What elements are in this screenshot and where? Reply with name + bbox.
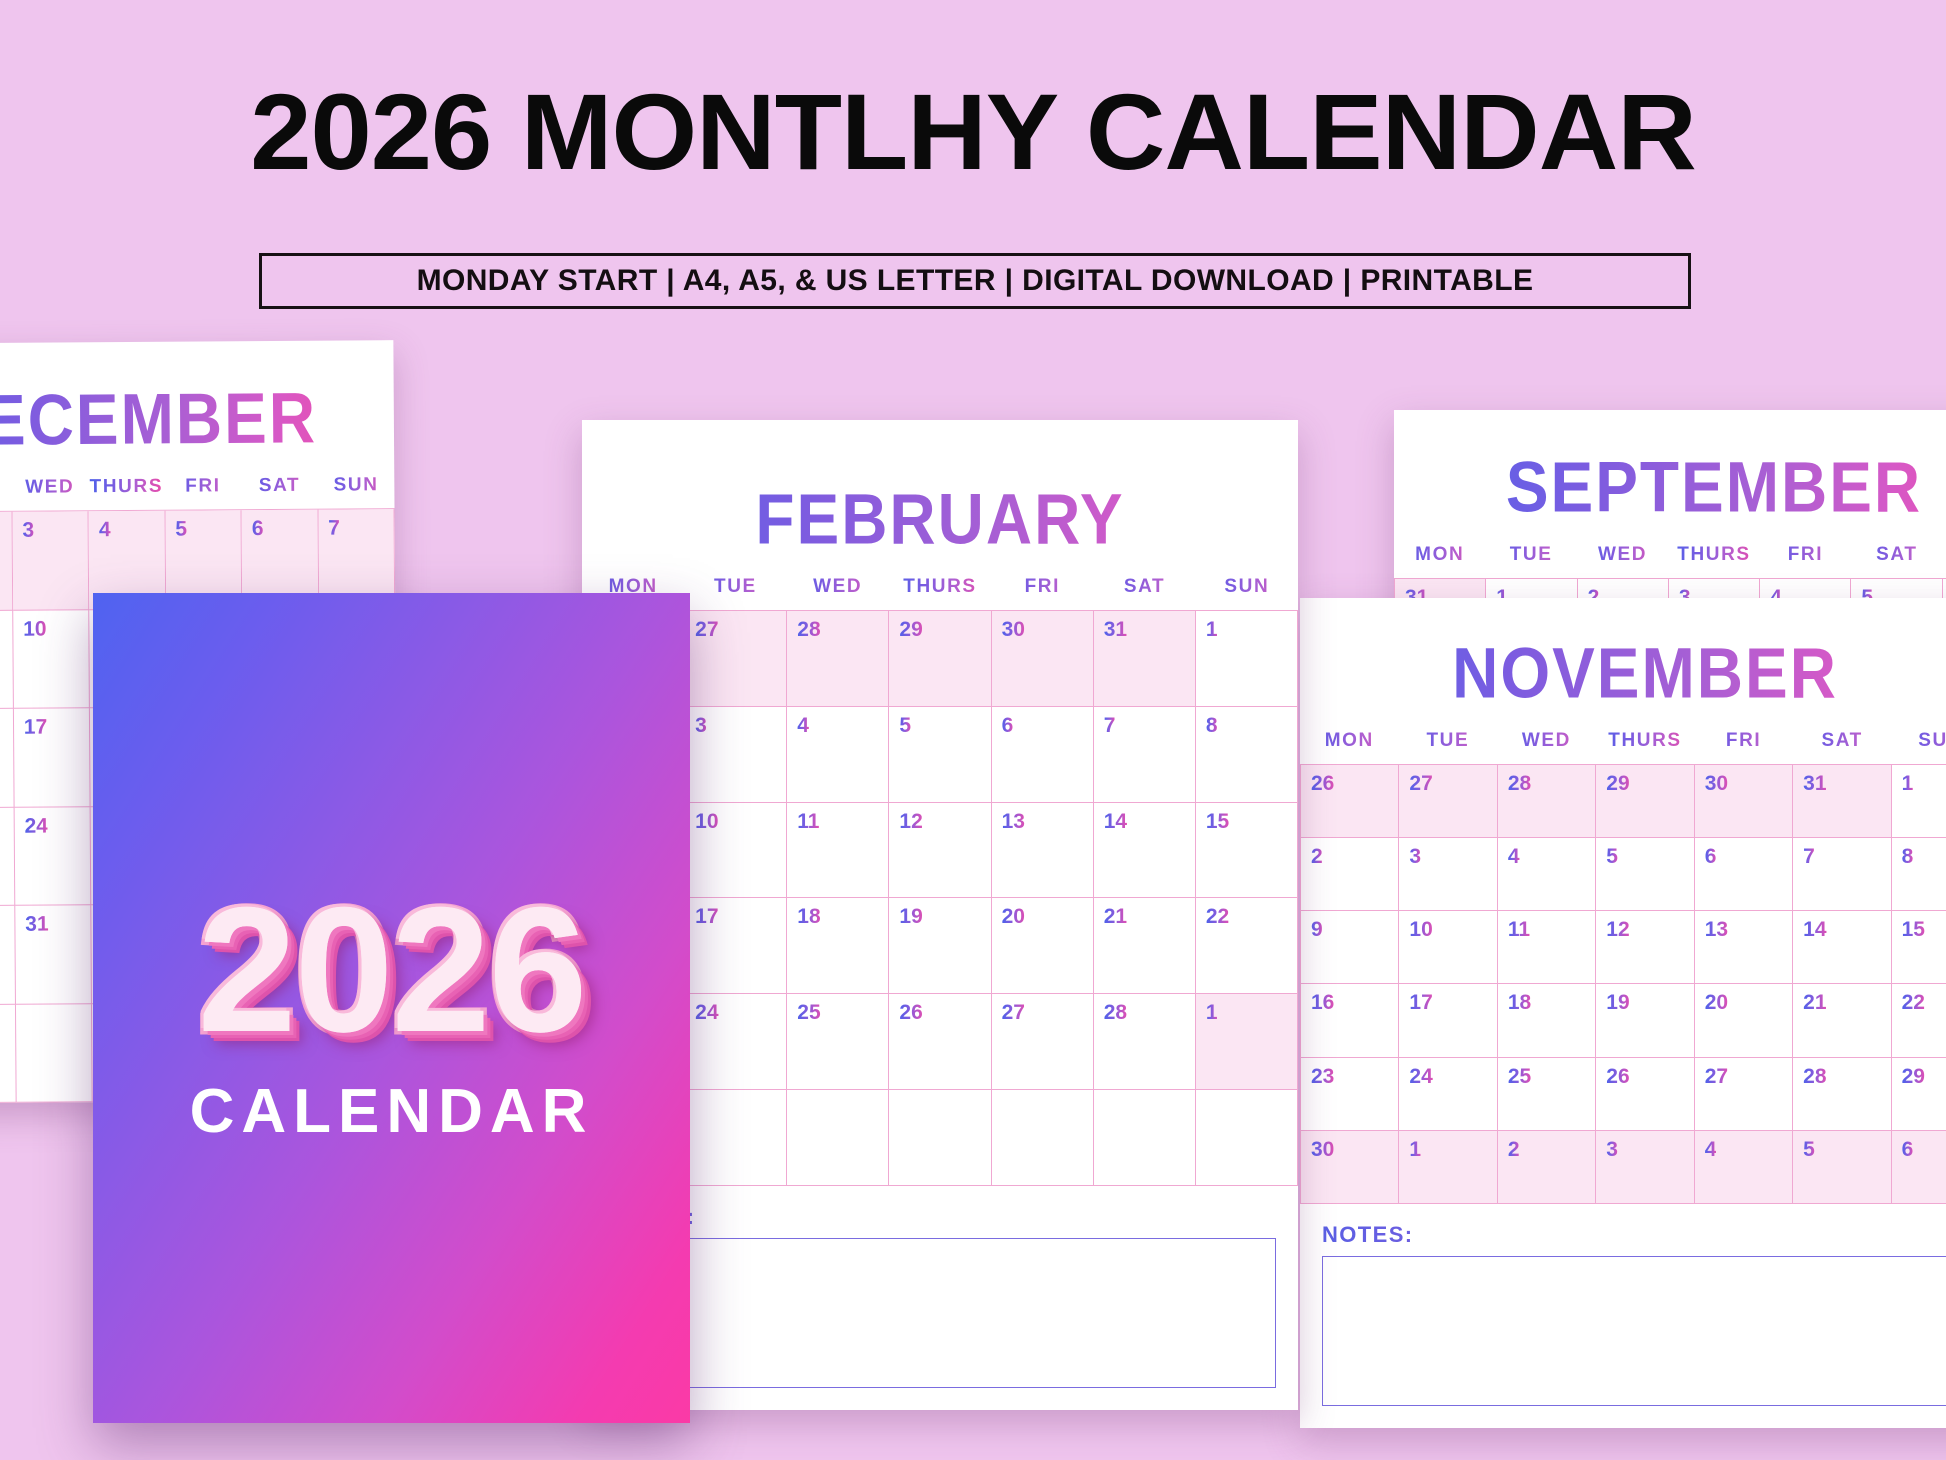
day-number: 21 bbox=[1104, 905, 1127, 929]
day-cell[interactable]: 9 bbox=[0, 610, 14, 709]
day-cell[interactable]: 28 bbox=[1094, 994, 1196, 1090]
weekday-wed: WED bbox=[1577, 534, 1668, 578]
day-cell[interactable]: 22 bbox=[1196, 898, 1298, 994]
day-number: 1 bbox=[1902, 772, 1914, 796]
day-cell[interactable]: 7 bbox=[1094, 707, 1196, 803]
day-grid-november: 2627282930311234567891011121314151617181… bbox=[1300, 764, 1946, 1204]
weekday-wed: WED bbox=[1497, 720, 1596, 764]
weekday-header-row-november: MON TUE WED THURS FRI SAT SUN bbox=[1300, 720, 1946, 764]
day-number: 24 bbox=[1409, 1065, 1432, 1089]
day-number: 7 bbox=[328, 517, 340, 541]
day-cell[interactable]: 4 bbox=[787, 707, 889, 803]
day-number: 30 bbox=[1311, 1138, 1334, 1162]
day-number: 17 bbox=[1409, 991, 1432, 1015]
day-cell[interactable]: 24 bbox=[685, 994, 787, 1090]
day-number: 27 bbox=[1705, 1065, 1728, 1089]
day-number: 26 bbox=[899, 1001, 922, 1025]
weekday-sun: SUN bbox=[1943, 534, 1946, 578]
weekday-header-row-september: MON TUE WED THURS FRI SAT SUN bbox=[1394, 534, 1946, 578]
day-cell[interactable]: 11 bbox=[1498, 911, 1596, 984]
day-number: 1 bbox=[1409, 1138, 1421, 1162]
weekday-mon: MON bbox=[1394, 534, 1485, 578]
day-cell[interactable]: 11 bbox=[787, 803, 889, 899]
day-cell[interactable]: 7 bbox=[1793, 838, 1891, 911]
day-number: 14 bbox=[1104, 810, 1127, 834]
weekday-sun: SUN bbox=[1891, 720, 1946, 764]
day-cell[interactable]: 30 bbox=[1695, 765, 1793, 838]
day-cell[interactable]: 22 bbox=[1892, 984, 1946, 1057]
day-number: 4 bbox=[99, 518, 111, 542]
day-number: 7 bbox=[1104, 714, 1116, 738]
day-number: 20 bbox=[1002, 905, 1025, 929]
day-number: 28 bbox=[1803, 1065, 1826, 1089]
day-cell[interactable]: 5 bbox=[889, 707, 991, 803]
weekday-sat: SAT bbox=[1851, 534, 1942, 578]
weekday-wed: WED bbox=[11, 466, 88, 511]
sheet-inner-november: NOVEMBER MON TUE WED THURS FRI SAT SUN 2… bbox=[1300, 598, 1946, 1428]
day-cell[interactable]: 26 bbox=[1301, 765, 1399, 838]
day-cell[interactable]: 28 bbox=[787, 611, 889, 707]
day-cell[interactable]: 29 bbox=[1596, 765, 1694, 838]
day-cell[interactable]: 21 bbox=[1793, 984, 1891, 1057]
day-cell[interactable]: 5 bbox=[1793, 1131, 1891, 1204]
day-number: 27 bbox=[1409, 772, 1432, 796]
day-cell[interactable]: 15 bbox=[1892, 911, 1946, 984]
day-number: 14 bbox=[1803, 918, 1826, 942]
day-number: 5 bbox=[899, 714, 911, 738]
day-cell[interactable]: 6 bbox=[992, 707, 1094, 803]
day-number: 3 bbox=[695, 714, 707, 738]
day-cell[interactable]: 13 bbox=[992, 803, 1094, 899]
day-cell[interactable]: 26 bbox=[889, 994, 991, 1090]
day-cell[interactable]: 14 bbox=[1094, 803, 1196, 899]
day-number: 31 bbox=[1803, 772, 1826, 796]
notes-label: NOTES: bbox=[1322, 1222, 1946, 1248]
day-cell[interactable]: 17 bbox=[14, 708, 91, 807]
day-cell[interactable]: 29 bbox=[889, 611, 991, 707]
day-cell[interactable]: 19 bbox=[889, 898, 991, 994]
day-cell[interactable]: 18 bbox=[1498, 984, 1596, 1057]
month-title-february: FEBRUARY bbox=[582, 466, 1298, 571]
day-cell[interactable]: 2 bbox=[0, 512, 13, 611]
month-title-september: SEPTEMBER bbox=[1394, 434, 1946, 539]
day-number: 2 bbox=[1311, 845, 1323, 869]
day-cell[interactable]: 1 bbox=[1196, 611, 1298, 707]
day-number: 15 bbox=[1206, 810, 1229, 834]
day-number: 7 bbox=[1803, 845, 1815, 869]
notes-label: NOTES: bbox=[604, 1204, 1276, 1230]
day-cell[interactable]: 6 bbox=[1695, 838, 1793, 911]
day-number: 30 bbox=[1705, 772, 1728, 796]
day-number: 5 bbox=[175, 518, 187, 542]
day-cell[interactable]: 27 bbox=[685, 611, 787, 707]
day-cell[interactable]: 30 bbox=[0, 906, 16, 1005]
day-number: 27 bbox=[695, 618, 718, 642]
day-cell[interactable]: 29 bbox=[1892, 1058, 1946, 1131]
day-number: 18 bbox=[797, 905, 820, 929]
day-number: 23 bbox=[1311, 1065, 1334, 1089]
weekday-sun: SUN bbox=[318, 464, 395, 509]
day-cell[interactable]: 15 bbox=[1196, 803, 1298, 899]
day-number: 31 bbox=[1104, 618, 1127, 642]
day-number: 6 bbox=[1902, 1138, 1914, 1162]
day-number: 28 bbox=[1508, 772, 1531, 796]
weekday-fri: FRI bbox=[1694, 720, 1793, 764]
day-number: 5 bbox=[1803, 1138, 1815, 1162]
header-block: 2026 MONTLHY CALENDAR MONDAY START | A4,… bbox=[0, 0, 1946, 330]
calendar-cover-card[interactable]: 2026 CALENDAR bbox=[93, 593, 690, 1423]
day-number: 12 bbox=[1606, 918, 1629, 942]
day-cell[interactable] bbox=[889, 1090, 991, 1186]
day-cell[interactable]: 16 bbox=[0, 709, 14, 808]
day-cell[interactable] bbox=[0, 1004, 16, 1103]
weekday-thurs: THURS bbox=[88, 466, 165, 511]
day-cell[interactable]: 28 bbox=[1793, 1058, 1891, 1131]
day-number: 1 bbox=[1206, 1001, 1218, 1025]
weekday-sat: SAT bbox=[241, 465, 318, 510]
day-number: 12 bbox=[899, 810, 922, 834]
day-number: 11 bbox=[1508, 918, 1530, 942]
day-cell[interactable]: 8 bbox=[1892, 838, 1946, 911]
weekday-sun: SUN bbox=[1196, 566, 1298, 610]
day-number: 29 bbox=[899, 618, 922, 642]
weekday-fri: FRI bbox=[164, 465, 241, 510]
day-cell[interactable]: 27 bbox=[1399, 765, 1497, 838]
day-number: 9 bbox=[1311, 918, 1323, 942]
cover-year-text: 2026 bbox=[93, 881, 690, 1059]
day-cell[interactable] bbox=[16, 1004, 93, 1103]
day-cell[interactable]: 20 bbox=[992, 898, 1094, 994]
notes-input-area[interactable] bbox=[604, 1238, 1276, 1388]
day-cell[interactable]: 8 bbox=[1196, 707, 1298, 803]
day-cell[interactable]: 6 bbox=[1892, 1131, 1946, 1204]
notes-input-area[interactable] bbox=[1322, 1256, 1946, 1406]
day-number: 22 bbox=[1206, 905, 1229, 929]
day-cell[interactable]: 30 bbox=[992, 611, 1094, 707]
day-number: 10 bbox=[1409, 918, 1432, 942]
day-number: 22 bbox=[1902, 991, 1925, 1015]
day-number: 3 bbox=[1409, 845, 1421, 869]
day-number: 20 bbox=[1705, 991, 1728, 1015]
day-number: 16 bbox=[1311, 991, 1334, 1015]
weekday-thurs: THURS bbox=[1596, 720, 1695, 764]
day-number: 28 bbox=[797, 618, 820, 642]
day-number: 24 bbox=[695, 1001, 718, 1025]
notes-section-november: NOTES: bbox=[1300, 1204, 1946, 1428]
day-cell[interactable]: 20 bbox=[1695, 984, 1793, 1057]
day-number: 4 bbox=[797, 714, 809, 738]
day-cell[interactable]: 26 bbox=[1596, 1058, 1694, 1131]
day-cell[interactable] bbox=[787, 1090, 889, 1186]
day-cell[interactable]: 21 bbox=[1094, 898, 1196, 994]
day-cell[interactable]: 31 bbox=[15, 905, 92, 1004]
weekday-wed: WED bbox=[787, 566, 889, 610]
day-number: 6 bbox=[252, 517, 264, 541]
day-cell[interactable]: 23 bbox=[0, 807, 15, 906]
day-cell[interactable]: 1 bbox=[1196, 994, 1298, 1090]
day-cell[interactable]: 27 bbox=[992, 994, 1094, 1090]
day-cell[interactable]: 3 bbox=[685, 707, 787, 803]
subtitle-box: MONDAY START | A4, A5, & US LETTER | DIG… bbox=[259, 253, 1691, 309]
day-number: 31 bbox=[25, 913, 49, 937]
weekday-fri: FRI bbox=[991, 566, 1093, 610]
day-number: 19 bbox=[1606, 991, 1629, 1015]
day-cell[interactable]: 16 bbox=[1301, 984, 1399, 1057]
day-number: 17 bbox=[695, 905, 718, 929]
day-cell[interactable]: 24 bbox=[1399, 1058, 1497, 1131]
weekday-tue: TUE bbox=[1485, 534, 1576, 578]
day-number: 4 bbox=[1508, 845, 1520, 869]
day-number: 10 bbox=[695, 810, 718, 834]
day-cell[interactable]: 3 bbox=[1399, 838, 1497, 911]
weekday-fri: FRI bbox=[1760, 534, 1851, 578]
month-title-november: NOVEMBER bbox=[1300, 620, 1946, 725]
day-cell[interactable]: 3 bbox=[1596, 1131, 1694, 1204]
day-number: 6 bbox=[1705, 845, 1717, 869]
day-cell[interactable]: 2 bbox=[1498, 1131, 1596, 1204]
cover-calendar-word: CALENDAR bbox=[93, 1076, 690, 1147]
day-cell[interactable]: 17 bbox=[685, 898, 787, 994]
day-number: 13 bbox=[1002, 810, 1025, 834]
day-number: 2 bbox=[1508, 1138, 1520, 1162]
day-cell[interactable]: 17 bbox=[1399, 984, 1497, 1057]
weekday-mon: MON bbox=[1300, 720, 1399, 764]
day-number: 10 bbox=[23, 617, 47, 641]
day-number: 8 bbox=[1902, 845, 1914, 869]
day-number: 21 bbox=[1803, 991, 1826, 1015]
day-cell[interactable]: 25 bbox=[1498, 1058, 1596, 1131]
day-number: 19 bbox=[899, 905, 922, 929]
day-cell[interactable]: 1 bbox=[1399, 1131, 1497, 1204]
weekday-sat: SAT bbox=[1093, 566, 1195, 610]
day-cell[interactable]: 24 bbox=[14, 807, 91, 906]
weekday-thurs: THURS bbox=[1668, 534, 1759, 578]
day-cell[interactable]: 9 bbox=[1301, 911, 1399, 984]
weekday-tue: TUE bbox=[684, 566, 786, 610]
day-cell[interactable]: 12 bbox=[889, 803, 991, 899]
subtitle-text: MONDAY START | A4, A5, & US LETTER | DIG… bbox=[417, 264, 1534, 298]
day-number: 1 bbox=[1206, 618, 1218, 642]
day-number: 13 bbox=[1705, 918, 1728, 942]
listing-mockup-canvas: DECEMBER MON TUE WED THURS FRI SAT SUN 1… bbox=[0, 0, 1946, 1460]
day-number: 3 bbox=[1606, 1138, 1618, 1162]
day-cell[interactable]: 4 bbox=[1695, 1131, 1793, 1204]
day-cell[interactable] bbox=[1094, 1090, 1196, 1186]
day-cell[interactable]: 31 bbox=[1793, 765, 1891, 838]
day-cell[interactable] bbox=[992, 1090, 1094, 1186]
day-cell[interactable]: 23 bbox=[1301, 1058, 1399, 1131]
day-cell[interactable]: 14 bbox=[1793, 911, 1891, 984]
day-number: 6 bbox=[1002, 714, 1014, 738]
day-cell[interactable]: 10 bbox=[1399, 911, 1497, 984]
day-cell[interactable]: 12 bbox=[1596, 911, 1694, 984]
day-cell[interactable]: 31 bbox=[1094, 611, 1196, 707]
day-number: 25 bbox=[1508, 1065, 1531, 1089]
day-cell[interactable]: 4 bbox=[1498, 838, 1596, 911]
calendar-sheet-november[interactable]: NOVEMBER MON TUE WED THURS FRI SAT SUN 2… bbox=[1300, 598, 1946, 1428]
day-number: 11 bbox=[797, 810, 819, 834]
day-number: 17 bbox=[24, 716, 48, 740]
weekday-sat: SAT bbox=[1793, 720, 1892, 764]
weekday-tue: TUE bbox=[0, 467, 12, 512]
day-cell[interactable]: 10 bbox=[13, 610, 90, 709]
day-cell[interactable]: 3 bbox=[12, 511, 89, 610]
weekday-thurs: THURS bbox=[889, 566, 991, 610]
day-cell[interactable]: 25 bbox=[787, 994, 889, 1090]
day-number: 5 bbox=[1606, 845, 1618, 869]
day-number: 24 bbox=[24, 814, 48, 838]
day-cell[interactable] bbox=[1196, 1090, 1298, 1186]
day-cell[interactable]: 13 bbox=[1695, 911, 1793, 984]
day-number: 30 bbox=[1002, 618, 1025, 642]
day-cell[interactable]: 30 bbox=[1301, 1131, 1399, 1204]
day-number: 27 bbox=[1002, 1001, 1025, 1025]
page-title: 2026 MONTLHY CALENDAR bbox=[0, 78, 1946, 186]
month-title-december: DECEMBER bbox=[0, 364, 394, 473]
day-cell[interactable]: 1 bbox=[1892, 765, 1946, 838]
day-number: 29 bbox=[1606, 772, 1629, 796]
day-number: 28 bbox=[1104, 1001, 1127, 1025]
day-cell[interactable]: 10 bbox=[685, 803, 787, 899]
day-number: 4 bbox=[1705, 1138, 1717, 1162]
day-cell[interactable]: 19 bbox=[1596, 984, 1694, 1057]
day-cell[interactable]: 28 bbox=[1498, 765, 1596, 838]
day-number: 26 bbox=[1606, 1065, 1629, 1089]
day-number: 26 bbox=[1311, 772, 1334, 796]
day-number: 8 bbox=[1206, 714, 1218, 738]
day-number: 15 bbox=[1902, 918, 1925, 942]
day-cell[interactable]: 5 bbox=[1596, 838, 1694, 911]
day-cell[interactable]: 2 bbox=[1301, 838, 1399, 911]
day-number: 18 bbox=[1508, 991, 1531, 1015]
day-cell[interactable] bbox=[685, 1090, 787, 1186]
day-number: 29 bbox=[1902, 1065, 1925, 1089]
weekday-tue: TUE bbox=[1399, 720, 1498, 764]
day-cell[interactable]: 18 bbox=[787, 898, 889, 994]
day-cell[interactable]: 27 bbox=[1695, 1058, 1793, 1131]
day-number: 3 bbox=[22, 519, 34, 543]
day-number: 25 bbox=[797, 1001, 820, 1025]
